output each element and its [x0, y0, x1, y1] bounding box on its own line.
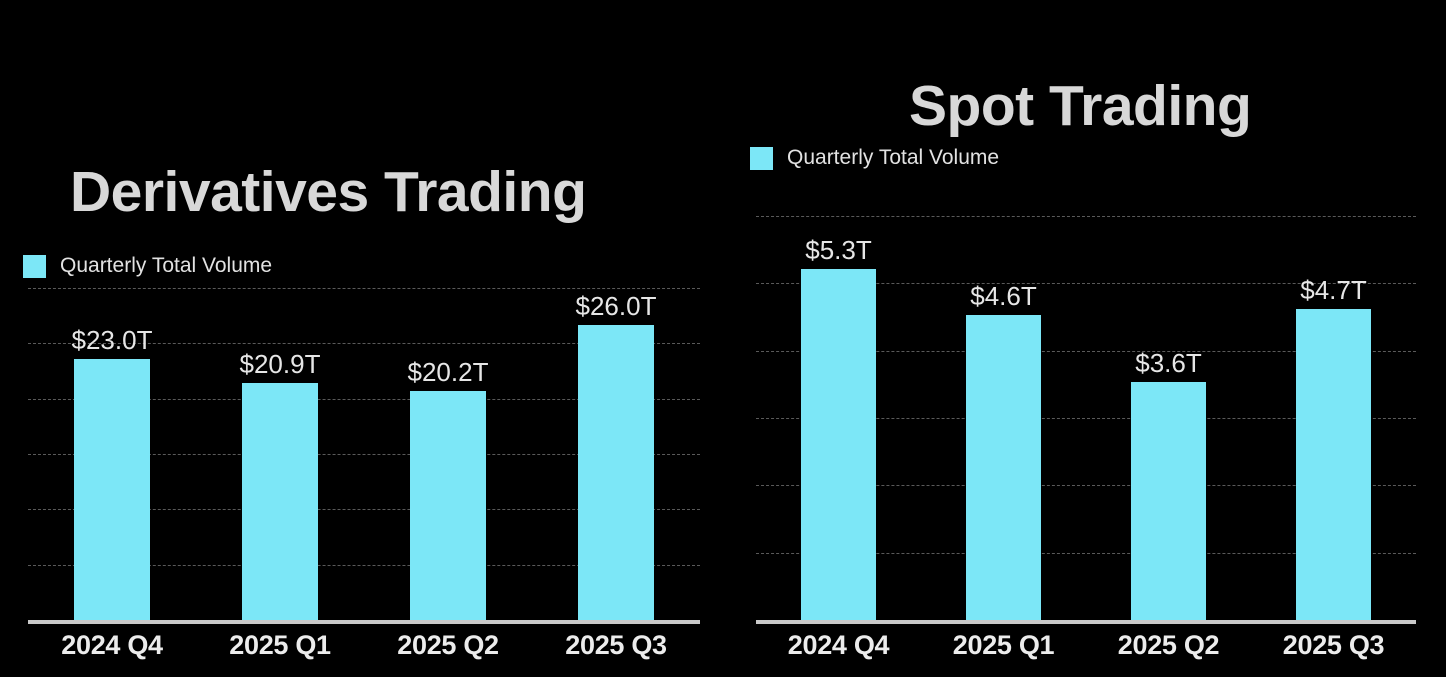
bar-slot: $3.6T [1131, 216, 1206, 620]
bar-group-spot: $5.3T$4.6T$3.6T$4.7T [756, 216, 1416, 620]
x-axis-label: 2025 Q3 [565, 630, 666, 661]
x-axis-label: 2025 Q2 [1118, 630, 1219, 661]
legend-label: Quarterly Total Volume [787, 146, 999, 170]
bar[interactable] [242, 383, 318, 620]
bar[interactable] [801, 269, 876, 620]
x-axis-label: 2024 Q4 [788, 630, 889, 661]
bar-slot: $23.0T [74, 288, 150, 620]
bar-slot: $5.3T [801, 216, 876, 620]
bar-value-label: $3.6T [1135, 350, 1202, 376]
x-axis-label: 2025 Q1 [953, 630, 1054, 661]
bar-value-label: $20.2T [408, 359, 489, 385]
slide-canvas: Derivatives Trading Quarterly Total Volu… [0, 0, 1446, 677]
bar[interactable] [966, 315, 1041, 620]
bar-value-label: $5.3T [805, 237, 872, 263]
bar-slot: $20.9T [242, 288, 318, 620]
x-axis-line [28, 620, 700, 624]
x-axis-label: 2025 Q3 [1283, 630, 1384, 661]
bar[interactable] [1131, 382, 1206, 620]
x-axis-label: 2024 Q4 [61, 630, 162, 661]
chart-panel-spot: Spot Trading Quarterly Total Volume $5.3… [723, 0, 1446, 677]
legend-swatch-icon [750, 147, 773, 170]
bar-value-label: $4.6T [970, 283, 1037, 309]
page-title-spot: Spot Trading [909, 78, 1251, 135]
legend-swatch-icon [23, 255, 46, 278]
bar-slot: $26.0T [578, 288, 654, 620]
bar-value-label: $26.0T [576, 293, 657, 319]
bar-slot: $4.6T [966, 216, 1041, 620]
bar-slot: $20.2T [410, 288, 486, 620]
x-axis-label: 2025 Q1 [229, 630, 330, 661]
bar-value-label: $20.9T [240, 351, 321, 377]
bar[interactable] [74, 359, 150, 620]
x-axis-line [756, 620, 1416, 624]
legend-spot: Quarterly Total Volume [750, 146, 999, 170]
bar[interactable] [1296, 309, 1371, 620]
legend-label: Quarterly Total Volume [60, 254, 272, 278]
plot-area-spot: $5.3T$4.6T$3.6T$4.7T [756, 216, 1416, 620]
legend-derivatives: Quarterly Total Volume [23, 254, 272, 278]
bar-value-label: $23.0T [72, 327, 153, 353]
bar[interactable] [410, 391, 486, 620]
page-title-derivatives: Derivatives Trading [70, 164, 586, 221]
bar-slot: $4.7T [1296, 216, 1371, 620]
chart-panel-derivatives: Derivatives Trading Quarterly Total Volu… [0, 0, 723, 677]
x-axis-label: 2025 Q2 [397, 630, 498, 661]
bar-value-label: $4.7T [1300, 277, 1367, 303]
plot-area-derivatives: $23.0T$20.9T$20.2T$26.0T [28, 288, 700, 620]
bar[interactable] [578, 325, 654, 620]
bar-group-derivatives: $23.0T$20.9T$20.2T$26.0T [28, 288, 700, 620]
